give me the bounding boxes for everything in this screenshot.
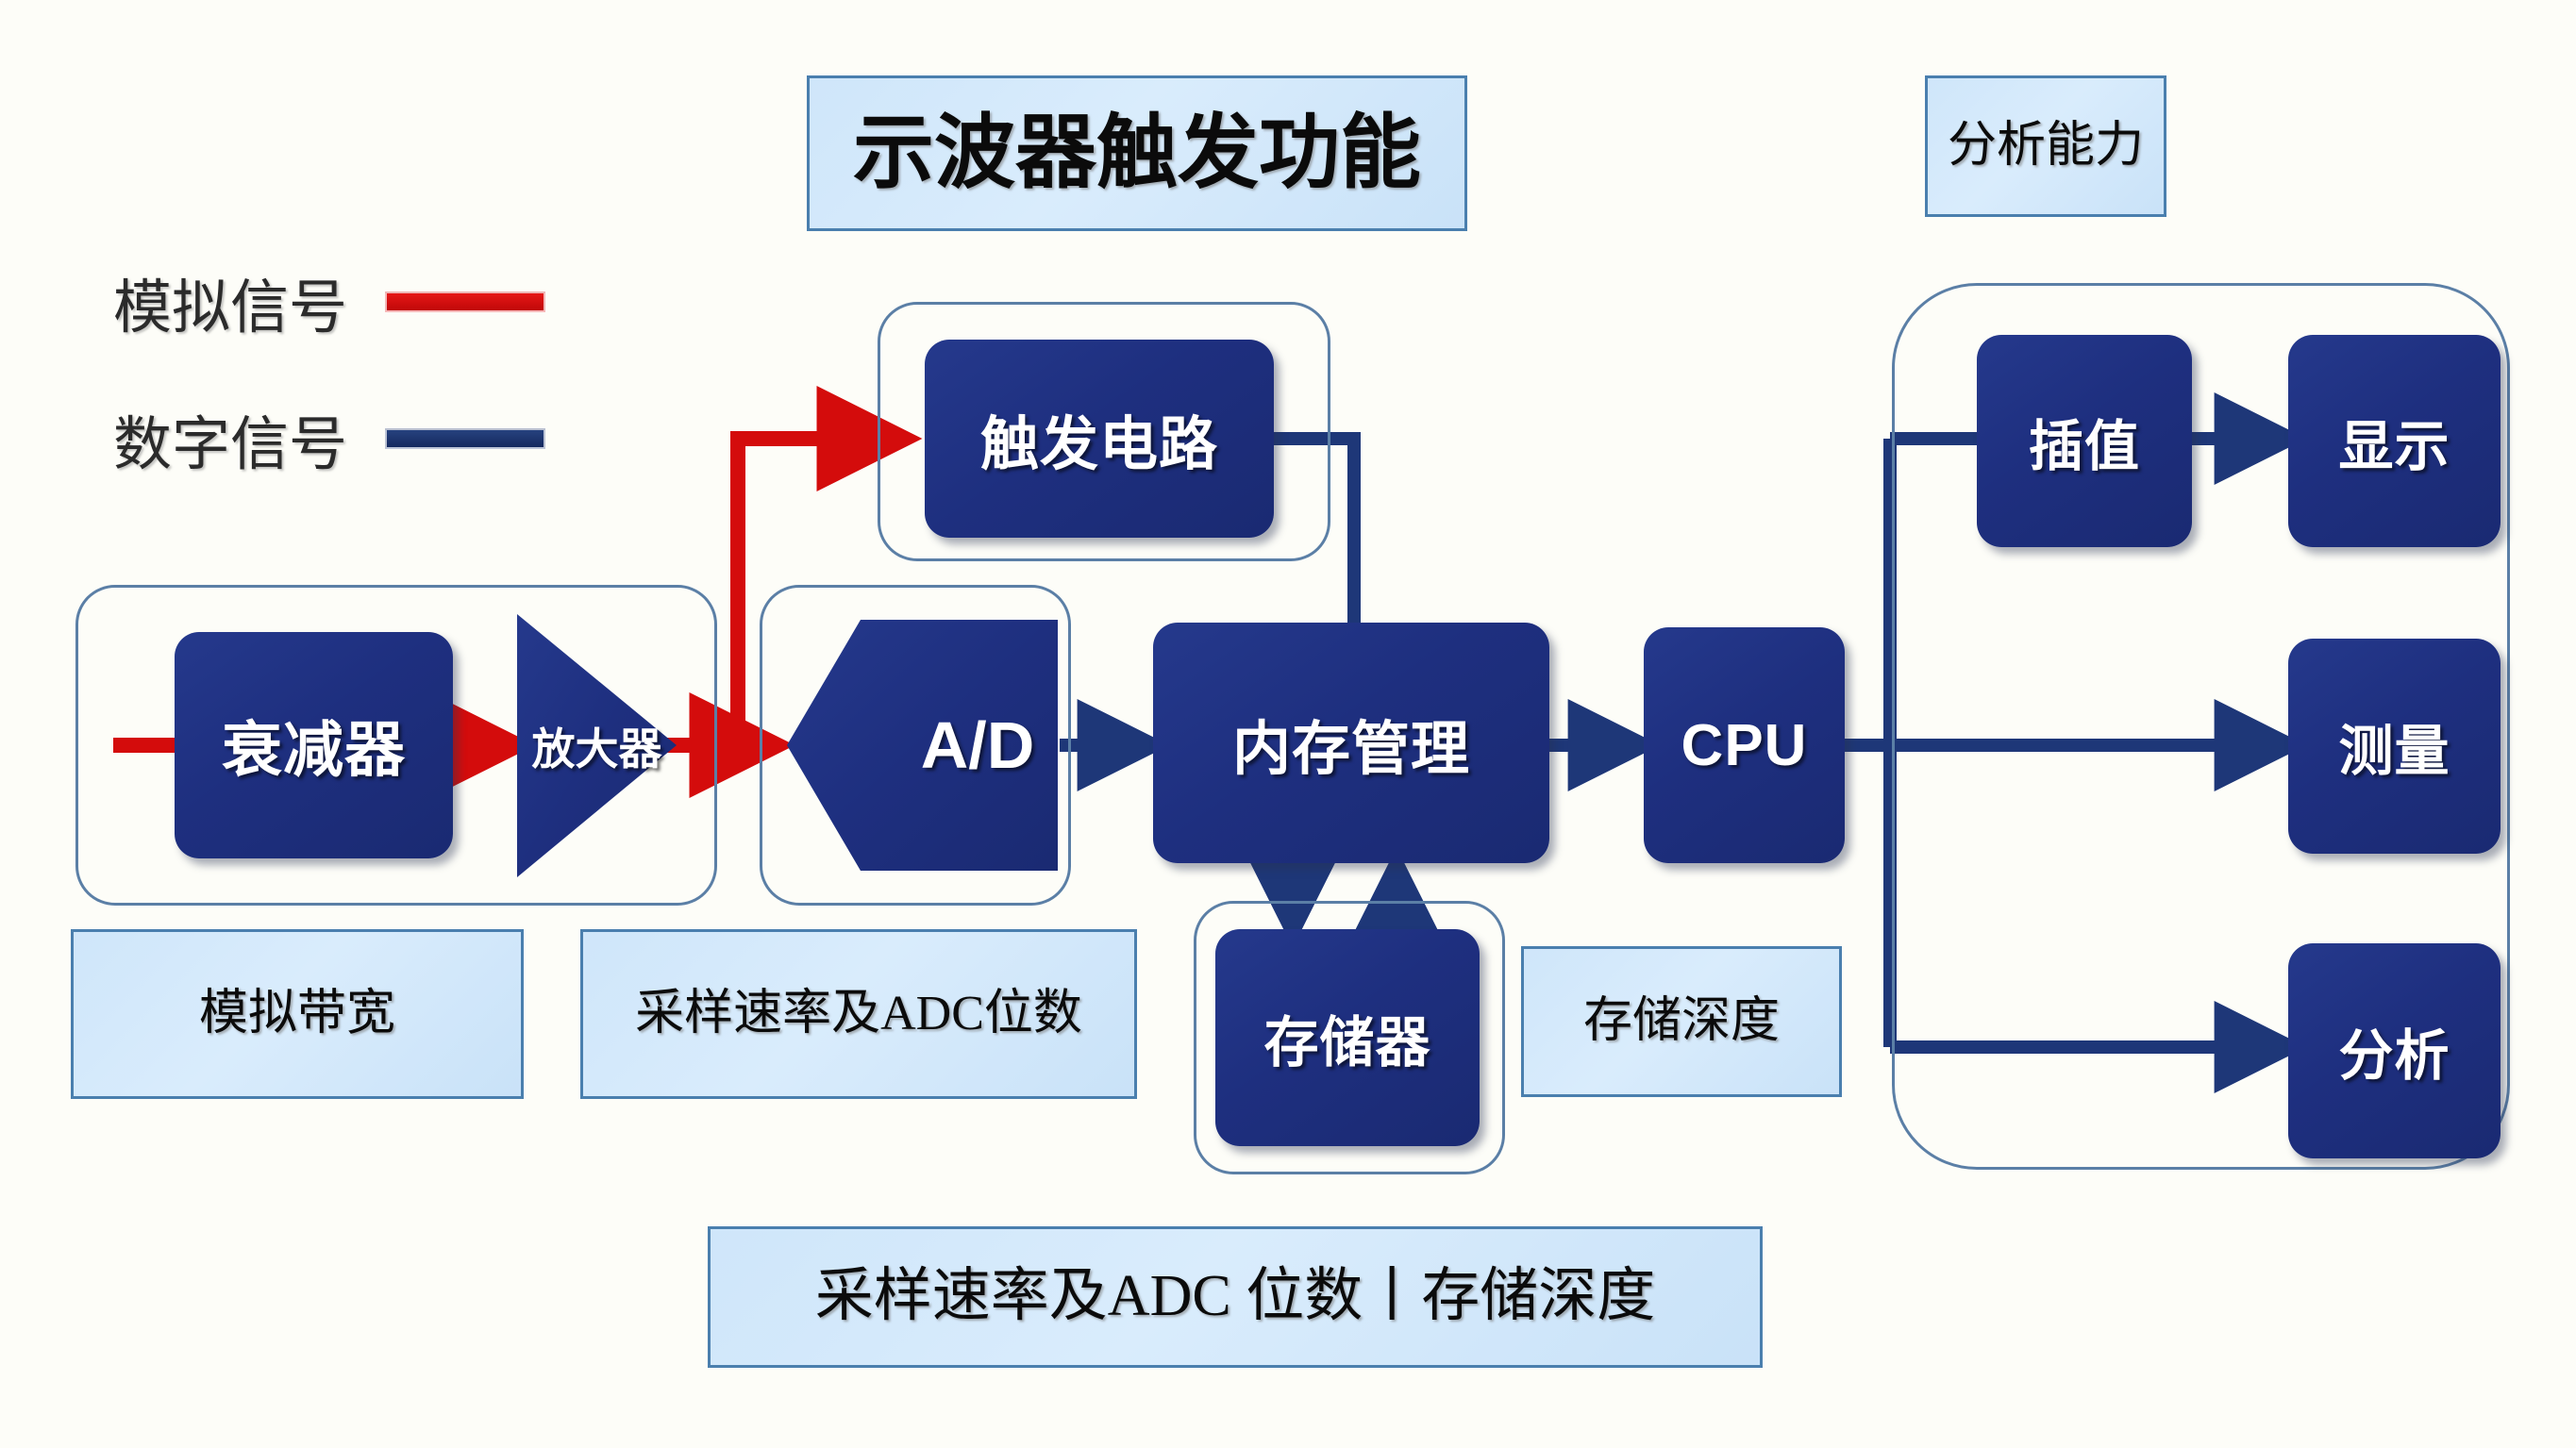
page-title: 示波器触发功能 (807, 75, 1467, 231)
block-storage[interactable]: 存储器 (1215, 929, 1480, 1146)
block-display-label: 显示 (2338, 402, 2450, 481)
caption-bottom-summary: 采样速率及ADC 位数丨存储深度 (708, 1226, 1763, 1368)
legend-item-analog: 模拟信号 (113, 259, 545, 344)
legend-label-analog: 模拟信号 (113, 259, 347, 344)
block-cpu-label: CPU (1681, 712, 1808, 779)
block-attenuator-label: 衰减器 (222, 702, 406, 789)
analysis-capability-title-text: 分析能力 (1948, 118, 2144, 175)
caption-storage-depth-text: 存储深度 (1583, 993, 1780, 1050)
caption-sample-rate-adc-bits-text: 采样速率及ADC位数 (635, 986, 1082, 1042)
block-cpu[interactable]: CPU (1644, 627, 1845, 863)
block-storage-label: 存储器 (1263, 998, 1430, 1077)
legend-swatch-digital-line (385, 428, 545, 449)
block-analysis-label: 分析 (2338, 1011, 2450, 1090)
block-memory-manager[interactable]: 内存管理 (1153, 623, 1549, 863)
block-display[interactable]: 显示 (2288, 335, 2501, 547)
block-amplifier[interactable]: 放大器 (514, 611, 679, 880)
legend-swatch-analog-line (385, 291, 545, 312)
block-interpolation-label: 插值 (2029, 402, 2140, 481)
block-trigger-circuit[interactable]: 触发电路 (925, 340, 1274, 538)
legend-label-digital: 数字信号 (113, 396, 347, 481)
block-measure[interactable]: 测量 (2288, 639, 2501, 854)
caption-storage-depth: 存储深度 (1521, 946, 1842, 1097)
block-analysis[interactable]: 分析 (2288, 943, 2501, 1158)
caption-bottom-summary-text: 采样速率及ADC 位数丨存储深度 (815, 1263, 1655, 1330)
block-attenuator[interactable]: 衰减器 (175, 632, 453, 858)
legend-item-digital: 数字信号 (113, 396, 545, 481)
caption-analog-bandwidth-text: 模拟带宽 (199, 986, 395, 1042)
block-trigger-circuit-label: 触发电路 (980, 396, 1218, 481)
analysis-capability-title: 分析能力 (1925, 75, 2166, 217)
block-interpolation[interactable]: 插值 (1977, 335, 2192, 547)
page-title-text: 示波器触发功能 (853, 107, 1421, 200)
block-measure-label: 测量 (2338, 707, 2450, 786)
block-memory-manager-label: 内存管理 (1232, 701, 1470, 786)
diagram-canvas: 示波器触发功能 分析能力 模拟信号 数字信号 衰减器 放大器 (0, 0, 2576, 1448)
caption-sample-rate-adc-bits: 采样速率及ADC位数 (580, 929, 1137, 1099)
caption-analog-bandwidth: 模拟带宽 (71, 929, 524, 1099)
block-adc[interactable]: A/D (785, 618, 1061, 873)
